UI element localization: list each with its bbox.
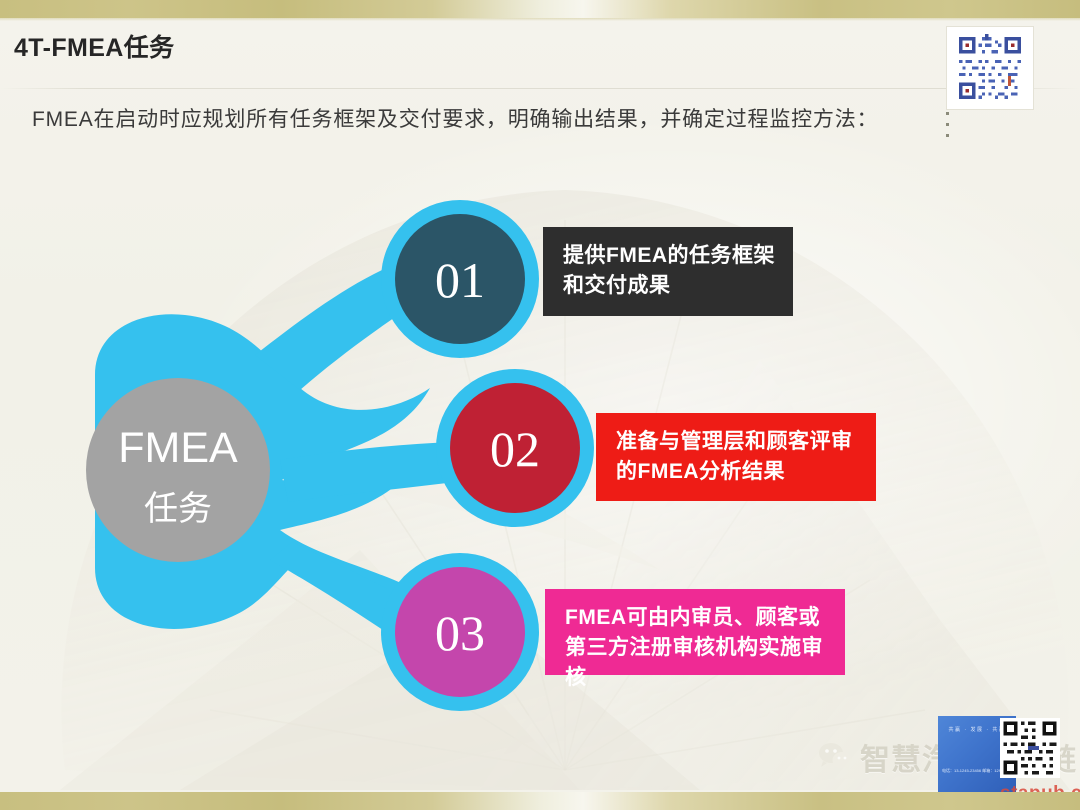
callout-02-line2: 的FMEA分析结果 <box>616 457 860 487</box>
callout-box-01: 提供FMEA的任务框架 和交付成果 <box>543 227 793 316</box>
title-divider <box>0 88 1080 89</box>
callout-03-line1: FMEA可由内审员、顾客或 <box>565 603 829 633</box>
callout-box-02: 准备与管理层和顾客评审 的FMEA分析结果 <box>596 413 876 501</box>
fmea-branch-diagram: FMEA 任务 01 02 03 <box>0 150 1080 770</box>
slide-subtitle: FMEA在启动时应规划所有任务框架及交付要求，明确输出结果，并确定过程监控方法： <box>32 103 878 133</box>
hub-label-line1: FMEA <box>118 424 238 472</box>
callout-01-line2: 和交付成果 <box>563 271 777 301</box>
top-gold-bar <box>0 0 1080 18</box>
callout-01-line1: 提供FMEA的任务框架 <box>563 241 777 271</box>
wechat-icon <box>818 742 852 772</box>
node-number-01: 01 <box>435 252 485 308</box>
node-number-02: 02 <box>490 421 540 477</box>
hub-label-line2: 任务 <box>144 490 212 528</box>
callout-03-line2: 第三方注册审核机构实施审 <box>565 633 829 663</box>
top-hairline <box>0 18 1080 21</box>
page-title: 4T-FMEA任务 <box>14 28 175 64</box>
callout-02-line1: 准备与管理层和顾客评审 <box>616 427 860 457</box>
qr-code-icon[interactable] <box>946 26 1034 110</box>
qr-side-dots <box>946 112 956 142</box>
callout-03-line3: 核 <box>565 663 829 693</box>
qr-code-icon-bottom[interactable] <box>1000 718 1060 778</box>
callout-box-03: FMEA可由内审员、顾客或 第三方注册审核机构实施审 核 <box>545 589 845 675</box>
bottom-gold-bar <box>0 792 1080 810</box>
node-number-03: 03 <box>435 605 485 661</box>
slide-canvas: 4T-FMEA任务 FMEA在启动时应规划所有任务框架及交付要求，明确输出结果，… <box>0 0 1080 810</box>
